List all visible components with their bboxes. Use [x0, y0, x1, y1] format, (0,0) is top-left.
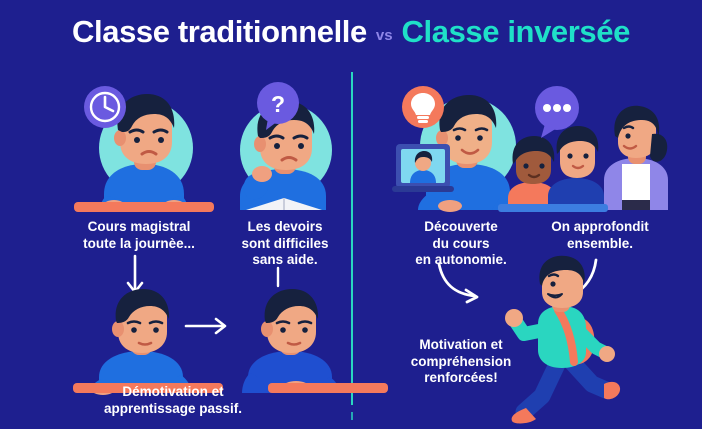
curved-arrow-down-right-icon — [437, 262, 487, 304]
chat-bubble-icon — [531, 84, 585, 140]
title-vs-label: vs — [376, 27, 393, 44]
lightbulb-icon — [400, 84, 446, 130]
caption-right-outcome: Motivation et compréhension renforcées! — [380, 337, 542, 387]
hair-bun — [650, 134, 667, 162]
title-left-label: Classe traditionnelle — [72, 14, 367, 50]
infographic-canvas: Classe traditionnelle vs Classe inversée — [0, 0, 702, 429]
desk — [74, 202, 214, 212]
svg-text:?: ? — [271, 91, 285, 117]
figure-student-passive — [238, 285, 354, 393]
caption-left-outcome: Démotivation et apprentissage passif. — [48, 384, 298, 417]
caption-homework: Les devoirs sont difficiles sans aide. — [212, 219, 358, 269]
title-right-label: Classe inversée — [402, 14, 630, 50]
figure-student-neutral — [85, 285, 203, 393]
laptop-base — [392, 186, 454, 192]
page-title: Classe traditionnelle vs Classe inversée — [0, 0, 702, 64]
clock-icon — [82, 84, 128, 130]
arrow-right-icon — [186, 315, 232, 337]
hand — [599, 346, 615, 362]
shoe-front — [604, 382, 620, 399]
panel-divider-dash — [351, 412, 353, 420]
question-mark-icon: ? — [254, 80, 302, 132]
caption-deepen: On approfondit ensemble. — [524, 219, 676, 252]
fist — [505, 309, 523, 327]
caption-lecture: Cours magistral toute la journèe... — [54, 219, 224, 252]
